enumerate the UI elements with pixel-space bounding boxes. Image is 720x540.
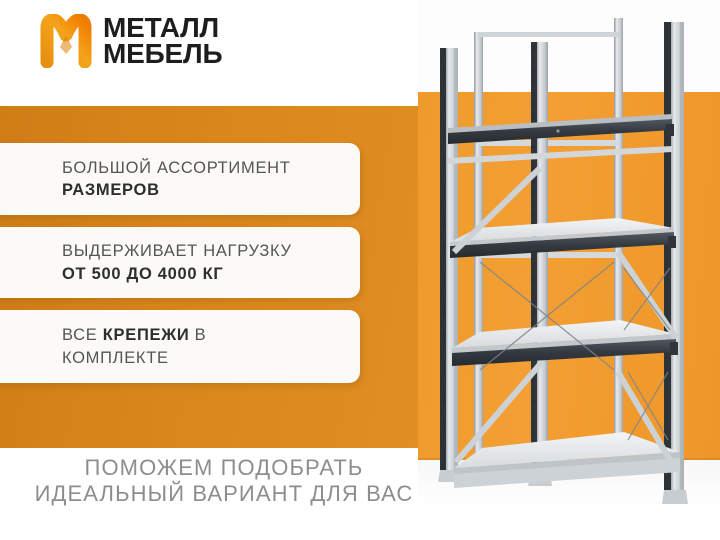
feature-1-line-2-bold: РАЗМЕРОВ <box>62 181 160 199</box>
brand-name-line-2: МЕБЕЛЬ <box>103 41 222 67</box>
feature-card-load-capacity: ВЫДЕРЖИВАЕТ НАГРУЗКУ ОТ 500 ДО 4000 КГ <box>0 227 360 298</box>
rack-shelf-bottom <box>454 432 680 488</box>
feature-3-line-2: КОМПЛЕКТЕ <box>62 347 360 369</box>
feature-3-post: В <box>189 326 206 344</box>
rack-upright-center <box>528 42 552 486</box>
avito-wordmark: Avito <box>646 501 706 530</box>
rack-beam-endcap-low <box>670 342 678 355</box>
brand-logo: МЕТАЛЛ МЕБЕЛЬ <box>38 14 222 68</box>
rack-upright-right <box>662 22 688 504</box>
feature-1-line-2: РАЗМЕРОВ <box>62 179 360 201</box>
feature-3-bold: КРЕПЕЖИ <box>103 326 190 344</box>
letter-m-logo-icon <box>38 14 94 68</box>
feature-2-line-2: ОТ 500 ДО 4000 КГ <box>62 263 360 285</box>
avito-watermark: Avito <box>615 501 706 530</box>
feature-card-fasteners: ВСЕ КРЕПЕЖИ В КОМПЛЕКТЕ <box>0 310 360 383</box>
slogan: ПОМОЖЕМ ПОДОБРАТЬ ИДЕАЛЬНЫЙ ВАРИАНТ ДЛЯ … <box>0 455 448 508</box>
shelving-rack-illustration <box>418 0 720 540</box>
feature-3-line-1: ВСЕ КРЕПЕЖИ В <box>62 324 360 346</box>
rack-beam-endcap-mid <box>668 236 676 248</box>
rack-upright-left <box>438 48 462 482</box>
feature-3-pre: ВСЕ <box>62 326 103 344</box>
product-photo <box>418 0 720 540</box>
feature-2-line-2-bold: ОТ 500 ДО 4000 КГ <box>62 265 223 283</box>
rack-beam-endcap-top <box>666 124 674 136</box>
rack-shelf-3 <box>452 320 676 366</box>
feature-1-line-1: БОЛЬШОЙ АССОРТИМЕНТ <box>62 157 360 179</box>
advertisement-banner: МЕТАЛЛ МЕБЕЛЬ БОЛЬШОЙ АССОРТИМЕНТ РАЗМЕР… <box>0 0 720 540</box>
feature-card-assortment: БОЛЬШОЙ АССОРТИМЕНТ РАЗМЕРОВ <box>0 143 360 215</box>
avito-logo-icon <box>615 503 641 529</box>
feature-2-line-1: ВЫДЕРЖИВАЕТ НАГРУЗКУ <box>62 240 360 262</box>
slogan-line-1: ПОМОЖЕМ ПОДОБРАТЬ <box>0 455 448 481</box>
slogan-line-2: ИДЕАЛЬНЫЙ ВАРИАНТ ДЛЯ ВАС <box>0 481 448 507</box>
